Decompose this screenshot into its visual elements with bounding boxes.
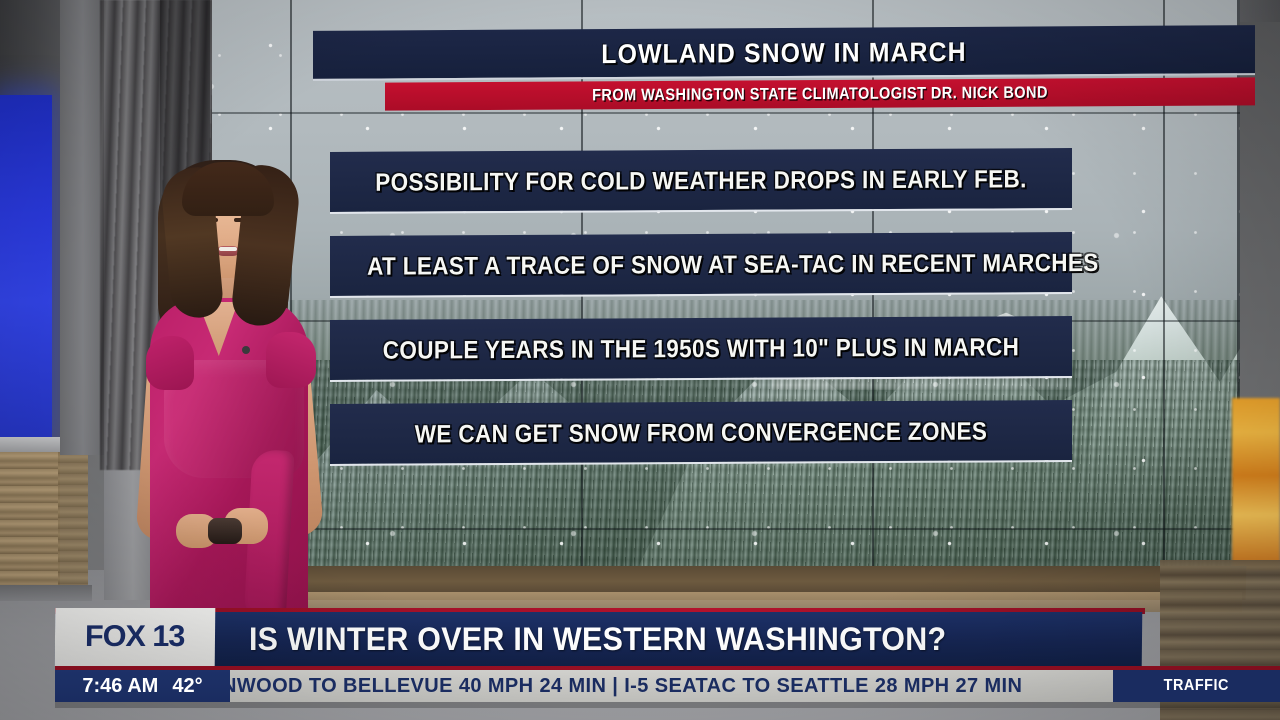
graphic-bullet-text: AT LEAST A TRACE OF SNOW AT SEA-TAC IN R… [367, 232, 1035, 297]
ticker-temperature: 42° [172, 675, 202, 698]
graphic-title-text: LOWLAND SNOW IN MARCH [351, 25, 1218, 80]
anchor-lapel-microphone [242, 346, 250, 354]
anchor-meteorologist [120, 150, 330, 620]
anchor-remote-clicker [208, 518, 242, 544]
graphic-bullet-row: POSSIBILITY FOR COLD WEATHER DROPS IN EA… [330, 148, 1072, 214]
broadcast-screenshot: LOWLAND SNOW IN MARCH FROM WASHINGTON ST… [0, 0, 1280, 720]
anchor-teeth [219, 247, 237, 251]
anchor-sleeve-right [266, 332, 316, 388]
lower-third-headline: IS WINTER OVER IN WESTERN WASHINGTON? [234, 621, 947, 658]
graphic-bullet-row: WE CAN GET SNOW FROM CONVERGENCE ZONES [330, 400, 1072, 466]
graphic-bullet-row: COUPLE YEARS IN THE 1950S WITH 10" PLUS … [330, 316, 1072, 382]
ticker-time-temp-block: 7:46 AM 42° [55, 670, 230, 702]
studio-wood-slat-column-secondary [58, 452, 88, 585]
station-logo: FOX 13 [55, 608, 216, 666]
graphic-bullet-row: AT LEAST A TRACE OF SNOW AT SEA-TAC IN R… [330, 232, 1072, 298]
ticker-category-badge: TRAFFIC [1113, 670, 1280, 702]
ticker-clock: 7:46 AM [82, 675, 158, 698]
lower-third-headline-container: IS WINTER OVER IN WESTERN WASHINGTON? [215, 612, 1142, 666]
studio-wood-base-shadow [0, 585, 92, 601]
graphic-bullet-text: WE CAN GET SNOW FROM CONVERGENCE ZONES [367, 400, 1035, 465]
graphic-subtitle-bar: FROM WASHINGTON STATE CLIMATOLOGIST DR. … [385, 77, 1255, 110]
studio-amber-glow-panel [1232, 398, 1280, 570]
studio-wood-slat-column [0, 452, 60, 597]
station-logo-text: FOX 13 [85, 620, 185, 654]
anchor-sleeve-left [146, 336, 194, 390]
studio-blue-accent-panel [0, 95, 52, 440]
graphic-subtitle-text: FROM WASHINGTON STATE CLIMATOLOGIST DR. … [437, 78, 1203, 111]
ticker-content: NWOOD TO BELLEVUE 40 MPH 24 MIN | I-5 SE… [222, 670, 1110, 702]
graphic-title-bar: LOWLAND SNOW IN MARCH [313, 25, 1255, 81]
ticker-category-label: TRAFFIC [1164, 677, 1229, 695]
graphic-bullet-list: POSSIBILITY FOR COLD WEATHER DROPS IN EA… [330, 150, 1072, 486]
ticker-drop-shadow [55, 702, 1280, 708]
graphic-bullet-text: POSSIBILITY FOR COLD WEATHER DROPS IN EA… [367, 148, 1035, 213]
graphic-bullet-text: COUPLE YEARS IN THE 1950S WITH 10" PLUS … [367, 316, 1035, 381]
